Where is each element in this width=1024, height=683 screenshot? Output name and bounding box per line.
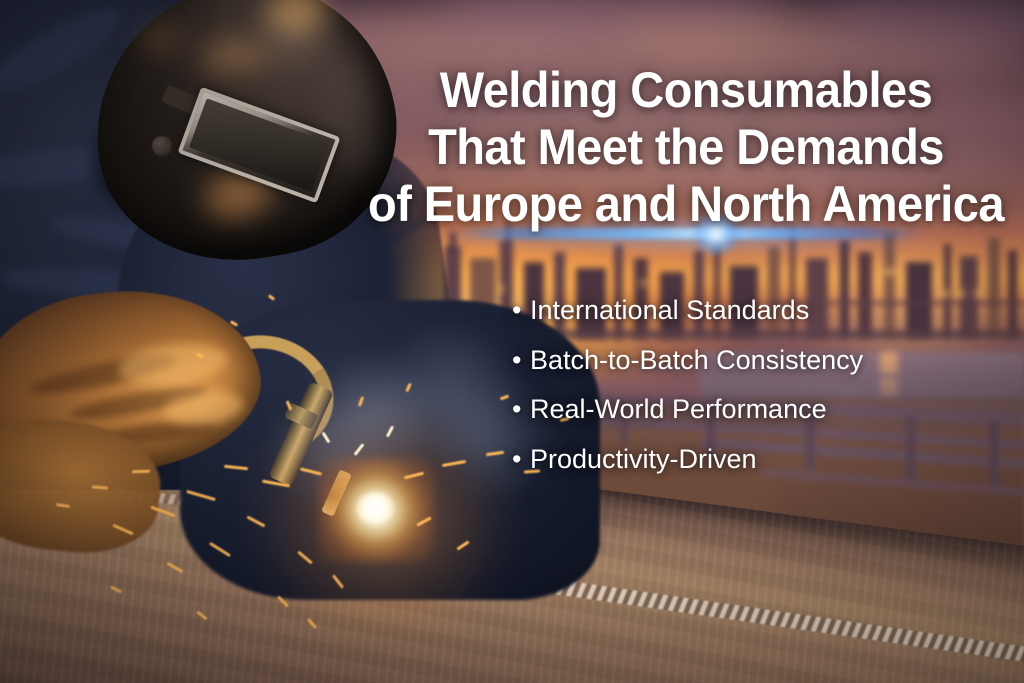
headline-line-2: That Meet the Demands (351, 119, 1020, 176)
bullet-label-real-world-performance: Real-World Performance (530, 385, 827, 435)
list-item: • Batch-to-Batch Consistency (512, 336, 982, 386)
headline-line-1: Welding Consumables (351, 62, 1020, 119)
banner-image: Welding Consumables That Meet the Demand… (0, 0, 1024, 683)
bullet-dot-icon: • (512, 336, 530, 386)
page-title: Welding Consumables That Meet the Demand… (351, 62, 1020, 233)
list-item: • Real-World Performance (512, 385, 982, 435)
bullet-dot-icon: • (512, 435, 530, 485)
headline-line-3: of Europe and North America (351, 176, 1020, 233)
arc-core (356, 492, 394, 524)
feature-bullet-list: • International Standards • Batch-to-Bat… (512, 286, 982, 484)
bullet-label-productivity-driven: Productivity-Driven (530, 435, 757, 485)
bullet-dot-icon: • (512, 286, 530, 336)
list-item: • Productivity-Driven (512, 435, 982, 485)
bullet-label-international-standards: International Standards (530, 286, 809, 336)
helmet-adjust-knob (152, 136, 172, 156)
list-item: • International Standards (512, 286, 982, 336)
bullet-dot-icon: • (512, 385, 530, 435)
bullet-label-batch-to-batch-consistency: Batch-to-Batch Consistency (530, 336, 863, 386)
